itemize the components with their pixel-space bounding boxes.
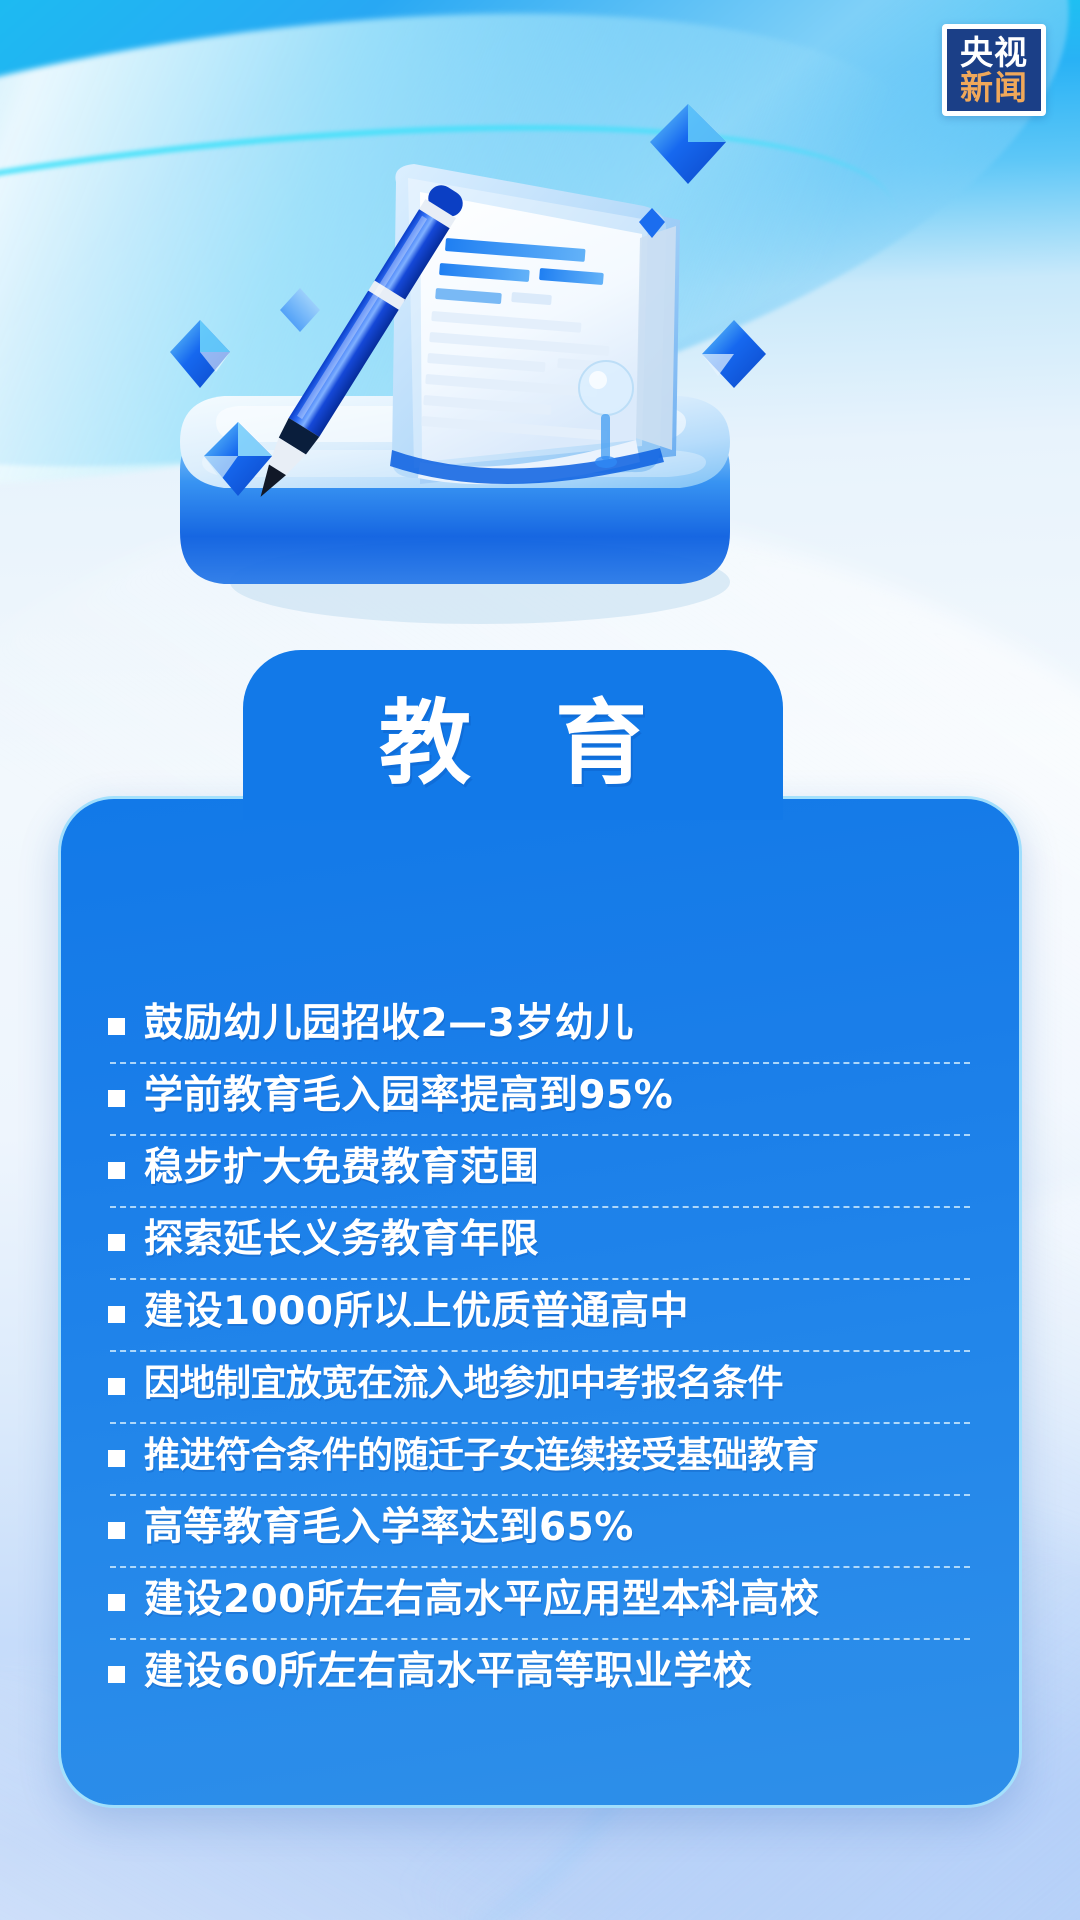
- gem-small-upper: [280, 288, 320, 332]
- book-and-pen-3d-illustration: [120, 70, 780, 670]
- bullet-marker-icon: [108, 1234, 125, 1251]
- logo-line-1: 央视: [960, 36, 1028, 69]
- page-title: 教 育: [353, 669, 673, 802]
- list-item[interactable]: 建设1000所以上优质普通高中: [108, 1280, 972, 1350]
- policy-list: 鼓励幼儿园招收2—3岁幼儿 学前教育毛入园率提高到95% 稳步扩大免费教育范围 …: [58, 960, 1022, 1808]
- list-item-label: 高等教育毛入学率达到65%: [144, 1505, 634, 1550]
- cctv-news-logo: 央视 新闻: [942, 24, 1046, 116]
- book-page-edges: [636, 226, 676, 450]
- bullet-marker-icon: [108, 1378, 125, 1395]
- list-item-label: 探索延长义务教育年限: [144, 1217, 539, 1262]
- list-item-label: 因地制宜放宽在流入地参加中考报名条件: [144, 1363, 783, 1405]
- bullet-marker-icon: [108, 1450, 125, 1467]
- list-item[interactable]: 建设60所左右高水平高等职业学校: [108, 1640, 972, 1710]
- bullet-marker-icon: [108, 1018, 125, 1035]
- list-item-label: 学前教育毛入园率提高到95%: [144, 1073, 673, 1118]
- bullet-marker-icon: [108, 1666, 125, 1683]
- bullet-marker-icon: [108, 1522, 125, 1539]
- gem-large-left: [170, 320, 230, 388]
- bullet-marker-icon: [108, 1162, 125, 1179]
- bullet-marker-icon: [108, 1306, 125, 1323]
- gem-top-right: [650, 104, 726, 184]
- list-item-label: 建设1000所以上优质普通高中: [144, 1289, 689, 1334]
- list-item[interactable]: 鼓励幼儿园招收2—3岁幼儿: [108, 992, 972, 1062]
- list-item[interactable]: 稳步扩大免费教育范围: [108, 1136, 972, 1206]
- list-item[interactable]: 学前教育毛入园率提高到95%: [108, 1064, 972, 1134]
- list-item-label: 建设200所左右高水平应用型本科高校: [144, 1577, 819, 1622]
- list-item[interactable]: 探索延长义务教育年限: [108, 1208, 972, 1278]
- list-item[interactable]: 推进符合条件的随迁子女连续接受基础教育: [108, 1424, 972, 1494]
- section-title-tab: 教 育: [243, 650, 783, 820]
- list-item-label: 推进符合条件的随迁子女连续接受基础教育: [144, 1435, 819, 1477]
- list-item-label: 鼓励幼儿园招收2—3岁幼儿: [144, 1001, 634, 1046]
- bullet-marker-icon: [108, 1594, 125, 1611]
- gem-right-mid: [702, 320, 766, 388]
- list-item[interactable]: 高等教育毛入学率达到65%: [108, 1496, 972, 1566]
- poster-canvas: 央视 新闻: [0, 0, 1080, 1920]
- list-item[interactable]: 因地制宜放宽在流入地参加中考报名条件: [108, 1352, 972, 1422]
- list-item-label: 建设60所左右高水平高等职业学校: [144, 1649, 752, 1694]
- bullet-marker-icon: [108, 1090, 125, 1107]
- list-item-label: 稳步扩大免费教育范围: [144, 1145, 539, 1190]
- list-item[interactable]: 建设200所左右高水平应用型本科高校: [108, 1568, 972, 1638]
- logo-line-2: 新闻: [960, 71, 1028, 104]
